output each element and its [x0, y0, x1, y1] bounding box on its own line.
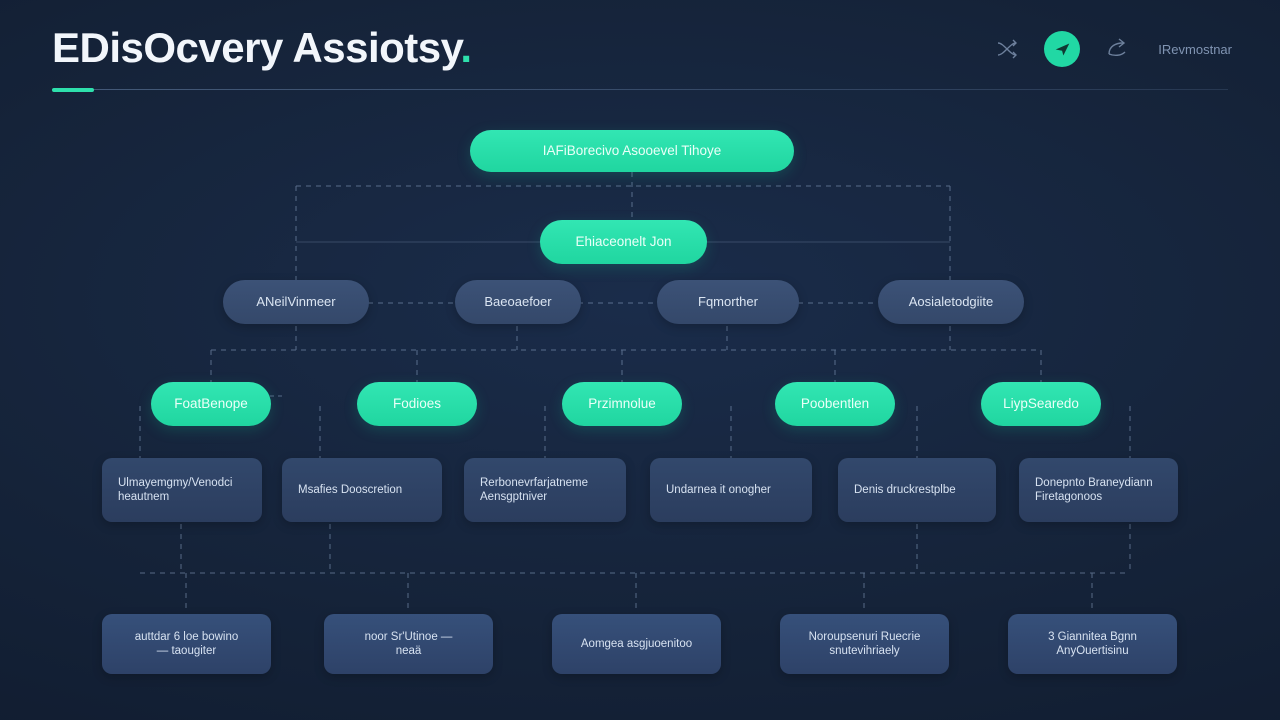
node-level4-3[interactable]: Poobentlen — [775, 382, 895, 426]
diagram-page: EDisOcvery Assiotsy. — [0, 0, 1280, 720]
node-level3-1[interactable]: Baeoaefoer — [455, 280, 581, 324]
node-level4-2[interactable]: Przimnolue — [562, 382, 682, 426]
node-level3-0[interactable]: ANeilVinmeer — [223, 280, 369, 324]
node-level3-2[interactable]: Fqmorther — [657, 280, 799, 324]
header-divider — [52, 89, 1228, 90]
title-accent-underline — [52, 88, 94, 92]
shuffle-icon[interactable] — [988, 30, 1026, 68]
node-level3-3[interactable]: Aosialetodgiite — [878, 280, 1024, 324]
share-icon[interactable] — [1098, 30, 1136, 68]
node-level2[interactable]: Ehiaceonelt Jon — [540, 220, 707, 264]
node-level5-3[interactable]: Undarnea it onogher — [650, 458, 812, 522]
node-level5-5[interactable]: Donepnto Braneydiann Firetagonoos — [1019, 458, 1178, 522]
node-level4-4[interactable]: LiypSearedo — [981, 382, 1101, 426]
node-level6-1[interactable]: noor Sr'Utinoe — neaä — [324, 614, 493, 674]
node-level4-1[interactable]: Fodioes — [357, 382, 477, 426]
node-level5-0[interactable]: Ulmayemgmy/Venodci heautnem — [102, 458, 262, 522]
page-title: EDisOcvery Assiotsy. — [52, 24, 472, 72]
header-actions: IRevmostnar — [988, 30, 1232, 68]
node-level6-4[interactable]: 3 Giannitea Bgnn AnyOuertisinu — [1008, 614, 1177, 674]
page-title-text: EDisOcvery Assiotsy — [52, 24, 460, 71]
diagram-canvas: IAFiBorecivo Asooevel Tihoye Ehiaceonelt… — [0, 96, 1280, 720]
send-icon[interactable] — [1044, 31, 1080, 67]
node-level6-3[interactable]: Noroupsenuri Ruecrie snutevihriaely — [780, 614, 949, 674]
node-level5-1[interactable]: Msafies Dooscretion — [282, 458, 442, 522]
node-root[interactable]: IAFiBorecivo Asooevel Tihoye — [470, 130, 794, 172]
header-user-label[interactable]: IRevmostnar — [1158, 42, 1232, 57]
node-level5-2[interactable]: Rerbonevrfarjatneme Aensgptniver — [464, 458, 626, 522]
node-level6-0[interactable]: auttdar 6 loe bowino — taougiter — [102, 614, 271, 674]
page-header: EDisOcvery Assiotsy. — [0, 0, 1280, 96]
page-title-accent-dot: . — [460, 24, 471, 71]
node-level6-2[interactable]: Aomgea asgjuoenitoo — [552, 614, 721, 674]
node-level4-0[interactable]: FoatBenope — [151, 382, 271, 426]
node-level5-4[interactable]: Denis druckrestplbe — [838, 458, 996, 522]
